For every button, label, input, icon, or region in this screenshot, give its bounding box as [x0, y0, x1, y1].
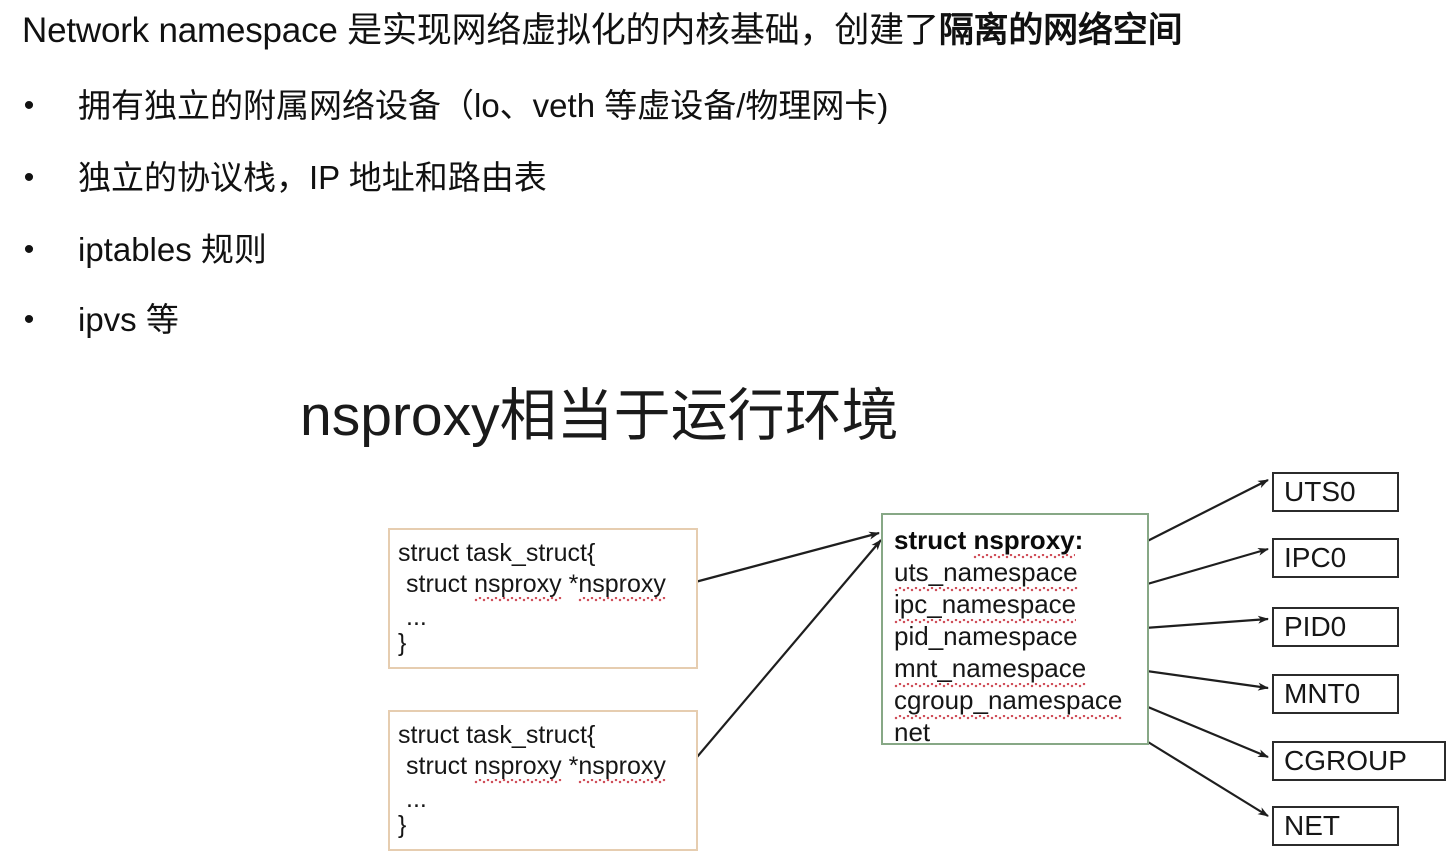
task-struct-line-4: }: [398, 810, 406, 840]
code-star: *: [562, 570, 579, 598]
namespace-box-ipc0: IPC0: [1272, 538, 1399, 578]
namespace-box-uts0: UTS0: [1272, 472, 1399, 512]
code-star: *: [562, 752, 579, 780]
code-field-nsproxy: nsproxy: [578, 570, 666, 602]
task-struct-line-3: ...: [406, 784, 427, 814]
code-keyword: struct: [406, 570, 474, 598]
nsproxy-field-uts: uts_namespace: [894, 557, 1078, 592]
code-keyword: struct: [406, 752, 474, 780]
arrow-net-to-net: [1148, 742, 1268, 816]
task-struct-line-2: struct nsproxy *nsproxy: [406, 751, 666, 781]
nsproxy-field-net: net: [894, 717, 930, 748]
nsproxy-field-ipc: ipc_namespace: [894, 589, 1076, 624]
nsproxy-field-cgroup: cgroup_namespace: [894, 685, 1122, 720]
nsproxy-struct-title: struct nsproxy:: [894, 525, 1083, 556]
code-field-nsproxy: nsproxy: [578, 752, 666, 784]
task-struct-line-3: ...: [406, 602, 427, 632]
task-struct-box-2: struct task_struct{ struct nsproxy *nspr…: [388, 710, 698, 851]
task-struct-line-4: }: [398, 628, 406, 658]
arrow-task2-to-nsproxy: [686, 540, 881, 770]
namespace-label-uts0: UTS0: [1274, 476, 1356, 508]
nsproxy-struct-box: struct nsproxy: uts_namespace ipc_namesp…: [881, 513, 1149, 745]
namespace-box-cgroup: CGROUP: [1272, 741, 1446, 781]
namespace-label-ipc0: IPC0: [1274, 542, 1346, 574]
namespace-box-mnt0: MNT0: [1272, 674, 1399, 714]
code-type-nsproxy: nsproxy: [474, 570, 562, 602]
code-type-nsproxy: nsproxy: [474, 752, 562, 784]
task-struct-line-1: struct task_struct{: [398, 720, 595, 750]
namespace-label-net: NET: [1274, 810, 1340, 842]
namespace-label-mnt0: MNT0: [1274, 678, 1360, 710]
arrow-task1-to-nsproxy: [684, 533, 879, 585]
nsproxy-field-pid: pid_namespace: [894, 621, 1078, 652]
nsproxy-field-mnt: mnt_namespace: [894, 653, 1086, 688]
task-struct-line-2: struct nsproxy *nsproxy: [406, 569, 666, 599]
namespace-box-pid0: PID0: [1272, 607, 1399, 647]
nsproxy-title-colon: :: [1075, 525, 1084, 555]
nsproxy-title-keyword: struct: [894, 525, 973, 555]
namespace-label-pid0: PID0: [1274, 611, 1346, 643]
task-struct-line-1: struct task_struct{: [398, 538, 595, 568]
nsproxy-diagram: nsproxy相当于运行环境 struct task_struct{ struc…: [0, 0, 1446, 866]
diagram-heading: nsproxy相当于运行环境: [300, 382, 899, 450]
namespace-label-cgroup: CGROUP: [1274, 745, 1407, 777]
nsproxy-title-name: nsproxy: [973, 525, 1074, 559]
namespace-box-net: NET: [1272, 806, 1399, 846]
task-struct-box-1: struct task_struct{ struct nsproxy *nspr…: [388, 528, 698, 669]
